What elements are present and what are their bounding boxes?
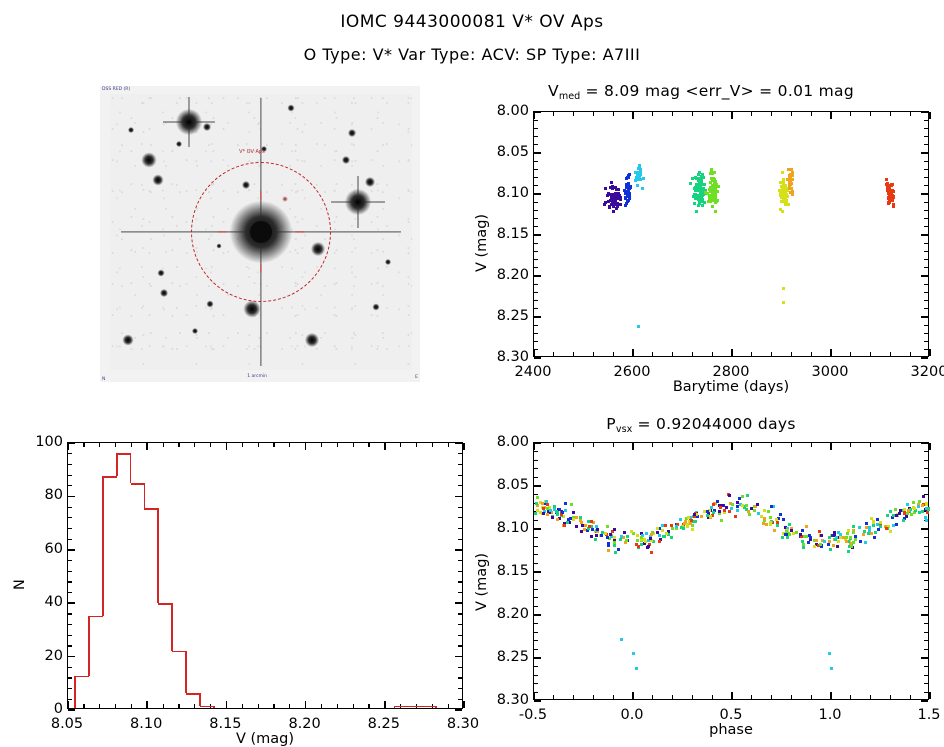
histogram-ylabel: N — [12, 579, 28, 590]
data-point — [906, 512, 909, 515]
data-point — [859, 540, 862, 543]
x-axis-tick — [384, 443, 386, 450]
data-point — [693, 513, 696, 516]
data-point — [820, 534, 823, 537]
x-axis-minor-tick — [712, 112, 713, 116]
data-point — [868, 526, 871, 529]
x-axis-minor-tick — [751, 352, 752, 356]
x-axis-minor-tick — [573, 112, 574, 116]
histogram-bar-top — [103, 476, 117, 478]
y-axis-tick — [534, 571, 541, 573]
data-point — [699, 191, 702, 194]
data-point — [736, 509, 739, 512]
y-axis-minor-tick — [924, 226, 928, 227]
y-axis-minor-tick — [924, 606, 928, 607]
light-curve-plot-area[interactable] — [533, 111, 929, 357]
x-axis-tick-label: 3000 — [812, 364, 849, 380]
data-point — [865, 522, 868, 525]
data-point — [784, 533, 787, 536]
data-point — [615, 207, 618, 210]
x-axis-tick — [731, 443, 733, 450]
data-point — [767, 510, 770, 513]
y-axis-tick — [921, 193, 928, 195]
y-axis-tick — [921, 357, 928, 359]
x-axis-minor-tick — [692, 695, 693, 699]
y-axis-minor-tick — [534, 243, 538, 244]
data-point — [760, 515, 763, 518]
data-point — [775, 518, 778, 521]
y-axis-minor-tick — [534, 300, 538, 301]
histogram-bar-top — [117, 453, 131, 455]
y-axis-tick-label: 8.15 — [471, 563, 529, 579]
data-point — [710, 188, 713, 191]
y-axis-tick — [534, 614, 541, 616]
data-point — [925, 502, 928, 505]
y-axis-minor-tick — [924, 640, 928, 641]
y-axis-minor-tick — [68, 571, 72, 572]
data-point — [712, 503, 715, 506]
data-point — [858, 526, 861, 529]
x-axis-minor-tick — [751, 112, 752, 116]
x-axis-tick — [632, 443, 634, 450]
y-axis-tick — [455, 709, 462, 711]
data-point — [874, 531, 877, 534]
phase-plot-title: Pvsx = 0.92044000 days — [466, 415, 936, 433]
data-point — [700, 515, 703, 518]
y-axis-tick-label: 8.25 — [471, 308, 529, 324]
data-point — [703, 201, 706, 204]
x-axis-minor-tick — [242, 704, 243, 708]
y-axis-minor-tick — [458, 645, 462, 646]
data-point — [614, 551, 617, 554]
y-axis-tick-label: 8.30 — [471, 692, 529, 708]
data-point — [606, 525, 609, 528]
y-axis-minor-tick — [924, 589, 928, 590]
x-axis-minor-tick — [99, 443, 100, 447]
data-point — [624, 192, 627, 195]
finder-chart[interactable]: V* OV Aps DSS RED (R) N 1 arcmin E — [100, 86, 420, 382]
y-axis-minor-tick — [534, 640, 538, 641]
y-axis-tick-label: 0 — [5, 701, 63, 717]
data-point — [687, 516, 690, 519]
y-axis-minor-tick — [534, 136, 538, 137]
data-point — [624, 196, 627, 199]
data-point — [833, 531, 836, 534]
x-axis-tick — [632, 692, 634, 699]
histogram-bar-top — [158, 603, 172, 605]
phase-plot-panel[interactable]: Pvsx = 0.92044000 days V (mag) phase 8.0… — [466, 415, 936, 745]
data-point — [799, 533, 802, 536]
data-point — [792, 532, 795, 535]
data-point — [604, 187, 607, 190]
y-axis-tick-label: 40 — [5, 594, 63, 610]
y-axis-tick — [68, 709, 75, 711]
data-point — [872, 524, 875, 527]
data-point — [641, 187, 644, 190]
histogram-bar-edge — [144, 483, 146, 508]
y-axis-minor-tick — [68, 528, 72, 529]
y-axis-minor-tick — [924, 649, 928, 650]
data-point — [854, 535, 857, 538]
x-axis-minor-tick — [178, 443, 179, 447]
data-point — [745, 504, 748, 507]
x-axis-tick-label: 8.10 — [130, 716, 162, 732]
histogram-bar-top — [200, 706, 214, 708]
histogram-bar-top — [422, 706, 436, 708]
data-point — [553, 505, 556, 508]
field-star — [176, 109, 202, 135]
data-point — [852, 525, 855, 528]
data-point — [580, 530, 583, 533]
y-axis-tick-label: 20 — [5, 648, 63, 664]
data-point — [569, 517, 572, 520]
y-axis-tick — [921, 528, 928, 530]
y-axis-minor-tick — [458, 635, 462, 636]
data-point — [892, 203, 895, 206]
data-point — [553, 508, 556, 511]
y-axis-minor-tick — [68, 624, 72, 625]
data-point-outlier — [637, 325, 640, 328]
data-point — [665, 532, 668, 535]
x-axis-tick — [533, 112, 535, 119]
y-axis-minor-tick — [924, 267, 928, 268]
y-axis-tick — [534, 193, 541, 195]
data-point — [864, 541, 867, 544]
x-axis-minor-tick — [712, 352, 713, 356]
data-point — [912, 501, 915, 504]
vmed-value-text: = 8.09 mag <err_V> = 0.01 mag — [580, 82, 854, 100]
data-point — [870, 532, 873, 535]
data-point — [801, 540, 804, 543]
x-axis-tick — [226, 701, 228, 708]
data-point — [607, 549, 610, 552]
y-axis-minor-tick — [924, 623, 928, 624]
x-axis-minor-tick — [613, 443, 614, 447]
data-point — [649, 537, 652, 540]
y-axis-minor-tick — [68, 645, 72, 646]
y-axis-minor-tick — [534, 520, 538, 521]
y-axis-minor-tick — [68, 539, 72, 540]
data-point — [596, 528, 599, 531]
field-star — [142, 153, 157, 168]
y-axis-minor-tick — [68, 699, 72, 700]
data-point — [728, 510, 731, 513]
y-axis-minor-tick — [68, 667, 72, 668]
data-point — [581, 524, 584, 527]
y-axis-minor-tick — [924, 161, 928, 162]
phase-plot-area[interactable] — [533, 442, 929, 700]
x-axis-tick — [226, 443, 228, 450]
data-point — [580, 521, 583, 524]
histogram-bar-edge — [116, 453, 118, 475]
x-axis-minor-tick — [337, 704, 338, 708]
field-star — [123, 334, 134, 345]
data-point — [600, 534, 603, 537]
data-point — [837, 540, 840, 543]
y-axis-minor-tick — [458, 688, 462, 689]
y-axis-minor-tick — [68, 464, 72, 465]
x-axis-minor-tick — [870, 112, 871, 116]
y-axis-minor-tick — [458, 592, 462, 593]
data-point — [614, 186, 617, 189]
data-point — [619, 198, 622, 201]
data-point — [781, 171, 784, 174]
data-point — [872, 520, 875, 523]
y-axis-minor-tick — [924, 554, 928, 555]
data-point — [873, 536, 876, 539]
data-point — [714, 210, 717, 213]
y-axis-minor-tick — [534, 341, 538, 342]
x-axis-minor-tick — [273, 443, 274, 447]
histogram-bar-top — [144, 508, 158, 510]
y-axis-minor-tick — [458, 485, 462, 486]
data-point — [645, 532, 648, 535]
y-axis-tick — [534, 275, 541, 277]
data-point-outlier — [632, 652, 635, 655]
data-point — [583, 528, 586, 531]
y-axis-minor-tick — [534, 632, 538, 633]
data-point — [779, 513, 782, 516]
data-point — [709, 200, 712, 203]
data-point — [584, 524, 587, 527]
data-point — [661, 529, 664, 532]
data-point — [656, 531, 659, 534]
y-axis-minor-tick — [68, 485, 72, 486]
data-point — [718, 510, 721, 513]
y-axis-minor-tick — [924, 308, 928, 309]
data-point — [879, 521, 882, 524]
x-axis-tick-label: -0.5 — [519, 707, 547, 723]
y-axis-minor-tick — [534, 292, 538, 293]
x-axis-minor-tick — [368, 443, 369, 447]
data-point — [716, 500, 719, 503]
data-point — [852, 531, 855, 534]
field-star — [153, 174, 164, 185]
x-axis-tick — [929, 692, 931, 699]
y-axis-tick — [921, 700, 928, 702]
data-point — [738, 497, 741, 500]
data-point — [787, 203, 790, 206]
histogram-bar-edge — [102, 476, 104, 616]
y-axis-minor-tick — [924, 292, 928, 293]
object-type-line: O Type: V* Var Type: ACV: SP Type: A7III — [0, 45, 944, 64]
y-axis-minor-tick — [458, 464, 462, 465]
y-axis-minor-tick — [924, 632, 928, 633]
data-point — [650, 551, 653, 554]
y-axis-minor-tick — [534, 161, 538, 162]
page-title: IOMC 9443000081 V* OV Aps — [0, 12, 944, 32]
y-axis-tick-label: 8.30 — [471, 349, 529, 365]
data-point — [706, 192, 709, 195]
y-axis-minor-tick — [924, 251, 928, 252]
y-axis-tick-label: 8.25 — [471, 649, 529, 665]
field-star — [176, 141, 182, 147]
x-axis-tick — [929, 443, 931, 450]
x-axis-minor-tick — [553, 695, 554, 699]
data-point — [607, 192, 610, 195]
data-point — [763, 517, 766, 520]
x-axis-minor-tick — [712, 443, 713, 447]
y-axis-minor-tick — [68, 507, 72, 508]
data-point — [697, 173, 700, 176]
x-axis-tick — [929, 112, 931, 119]
data-point — [828, 536, 831, 539]
x-axis-minor-tick — [850, 443, 851, 447]
x-axis-minor-tick — [613, 695, 614, 699]
y-axis-minor-tick — [534, 177, 538, 178]
x-axis-tick-label: 2600 — [614, 364, 651, 380]
data-point — [617, 548, 620, 551]
data-point — [790, 529, 793, 532]
data-point — [551, 516, 554, 519]
data-point — [606, 536, 609, 539]
y-axis-minor-tick — [68, 453, 72, 454]
data-point — [747, 510, 750, 513]
data-point — [595, 534, 598, 537]
histogram-bar-top — [408, 706, 422, 708]
y-axis-minor-tick — [458, 507, 462, 508]
data-point — [889, 510, 892, 513]
crosshair-left — [217, 231, 226, 232]
y-axis-minor-tick — [534, 589, 538, 590]
data-point — [689, 522, 692, 525]
target-marker-circle — [191, 162, 331, 302]
x-axis-minor-tick — [692, 443, 693, 447]
data-point — [699, 180, 702, 183]
data-point-outlier — [830, 667, 833, 670]
y-axis-minor-tick — [534, 284, 538, 285]
x-axis-tick — [731, 349, 733, 356]
y-axis-minor-tick — [534, 144, 538, 145]
data-point — [570, 503, 573, 506]
data-point — [845, 540, 848, 543]
data-point — [534, 512, 537, 515]
data-point — [886, 514, 889, 517]
x-axis-tick — [830, 692, 832, 699]
data-point — [575, 516, 578, 519]
y-axis-minor-tick — [924, 666, 928, 667]
y-axis-minor-tick — [458, 667, 462, 668]
field-star — [203, 123, 211, 131]
x-axis-minor-tick — [692, 112, 693, 116]
data-point — [779, 208, 782, 211]
y-axis-tick-label: 100 — [5, 434, 63, 450]
data-point — [710, 168, 713, 171]
x-axis-tick-label: 8.15 — [209, 716, 241, 732]
x-axis-minor-tick — [416, 443, 417, 447]
data-point — [906, 503, 909, 506]
y-axis-minor-tick — [924, 259, 928, 260]
data-point — [788, 185, 791, 188]
histogram-bar-edge — [171, 603, 173, 650]
y-axis-minor-tick — [458, 613, 462, 614]
data-point — [588, 525, 591, 528]
y-axis-tick — [534, 528, 541, 530]
x-axis-minor-tick — [337, 443, 338, 447]
data-point — [781, 536, 784, 539]
crosshair-top — [260, 192, 261, 201]
data-point — [836, 545, 839, 548]
y-axis-minor-tick — [534, 597, 538, 598]
data-point — [636, 534, 639, 537]
data-point — [741, 504, 744, 507]
y-axis-minor-tick — [924, 580, 928, 581]
data-point — [625, 183, 628, 186]
y-axis-tick — [534, 657, 541, 659]
x-axis-minor-tick — [321, 443, 322, 447]
histogram-bar-edge — [74, 676, 76, 708]
x-axis-minor-tick — [613, 112, 614, 116]
data-point — [628, 173, 631, 176]
data-point — [870, 517, 873, 520]
data-point — [927, 507, 930, 510]
x-axis-tick — [632, 112, 634, 119]
data-point — [695, 513, 698, 516]
x-axis-minor-tick — [771, 112, 772, 116]
y-axis-tick — [455, 656, 462, 658]
x-axis-tick-label: 8.25 — [368, 716, 400, 732]
data-point — [736, 505, 739, 508]
histogram-bar-top — [75, 676, 89, 678]
y-axis-minor-tick — [924, 537, 928, 538]
y-axis-minor-tick — [534, 128, 538, 129]
y-axis-minor-tick — [534, 623, 538, 624]
histogram-bar-top — [186, 693, 200, 695]
y-axis-minor-tick — [924, 563, 928, 564]
x-axis-minor-tick — [553, 112, 554, 116]
y-axis-tick — [68, 602, 75, 604]
data-point — [564, 502, 567, 505]
data-point — [895, 523, 898, 526]
field-star — [128, 127, 134, 133]
data-point — [714, 192, 717, 195]
y-axis-tick-label: 60 — [5, 541, 63, 557]
data-point — [640, 536, 643, 539]
data-point — [899, 509, 902, 512]
data-point — [846, 532, 849, 535]
light-curve-panel[interactable]: Vmed = 8.09 mag <err_V> = 0.01 mag V (ma… — [466, 82, 936, 392]
y-axis-minor-tick — [458, 539, 462, 540]
data-point — [691, 528, 694, 531]
x-axis-minor-tick — [811, 695, 812, 699]
y-axis-tick-label: 8.10 — [471, 185, 529, 201]
field-star — [305, 333, 319, 347]
x-axis-tick — [384, 701, 386, 708]
data-point — [839, 533, 842, 536]
light-curve-title: Vmed = 8.09 mag <err_V> = 0.01 mag — [466, 82, 936, 100]
data-point — [903, 508, 906, 511]
phase-xlabel: phase — [533, 722, 929, 738]
data-point — [564, 509, 567, 512]
x-axis-tick — [830, 443, 832, 450]
data-point — [637, 178, 640, 181]
histogram-bar-top — [89, 616, 103, 618]
data-point — [890, 196, 893, 199]
y-axis-minor-tick — [924, 120, 928, 121]
period-value-text: = 0.92044000 days — [632, 415, 795, 433]
data-point — [556, 513, 559, 516]
data-point — [823, 540, 826, 543]
y-axis-tick — [921, 485, 928, 487]
y-axis-minor-tick — [534, 325, 538, 326]
field-star — [288, 104, 295, 111]
x-axis-minor-tick — [83, 704, 84, 708]
histogram-panel[interactable]: N V (mag) 1008060402008.058.108.158.208.… — [0, 424, 470, 744]
y-axis-tick — [68, 549, 75, 551]
histogram-bar-edge — [435, 706, 437, 708]
y-axis-minor-tick — [534, 666, 538, 667]
histogram-plot-area[interactable] — [67, 442, 463, 709]
